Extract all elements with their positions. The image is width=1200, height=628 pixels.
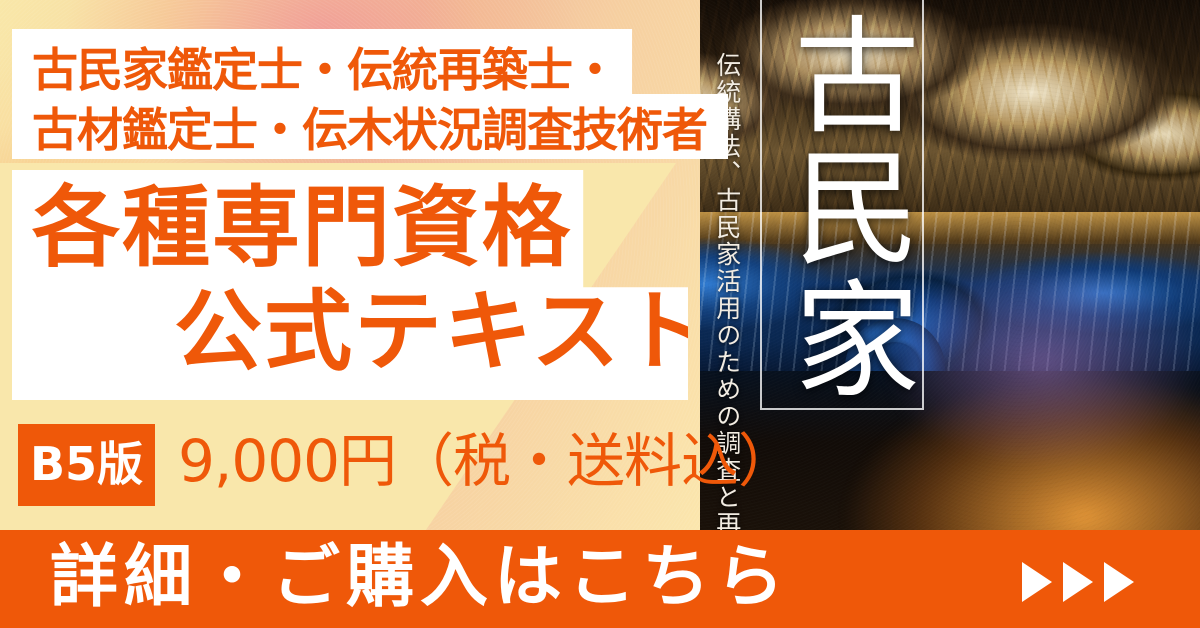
- promo-banner: 伝統構法、古民家活用のための調査と再生の 古民家 古民家鑑定士・伝統再築士・ 古…: [0, 0, 1200, 628]
- format-badge: B5版: [18, 424, 155, 506]
- headline-line-1: 各種専門資格: [32, 184, 572, 272]
- subheadline-line-1: 古民家鑑定士・伝統再築士・: [32, 47, 617, 93]
- price-text: 9,000円（税・送料込）: [178, 432, 795, 490]
- subheadline-line-2: 古材鑑定士・伝木状況調査技術者: [32, 107, 707, 153]
- cta-label: 詳細・ご購入はこちら: [50, 544, 790, 612]
- chevron-right-icon: [1063, 562, 1093, 602]
- cta-arrows: [1022, 562, 1134, 602]
- headline-line-2: 公式テキスト: [174, 288, 711, 376]
- subheadline-card: 古民家鑑定士・伝統再築士・ 古材鑑定士・伝木状況調査技術者: [12, 29, 728, 159]
- chevron-right-icon: [1022, 562, 1052, 602]
- cover-title: 古民家: [772, 10, 908, 406]
- cta-bar[interactable]: 詳細・ご購入はこちら: [0, 530, 1200, 628]
- chevron-right-icon: [1104, 562, 1134, 602]
